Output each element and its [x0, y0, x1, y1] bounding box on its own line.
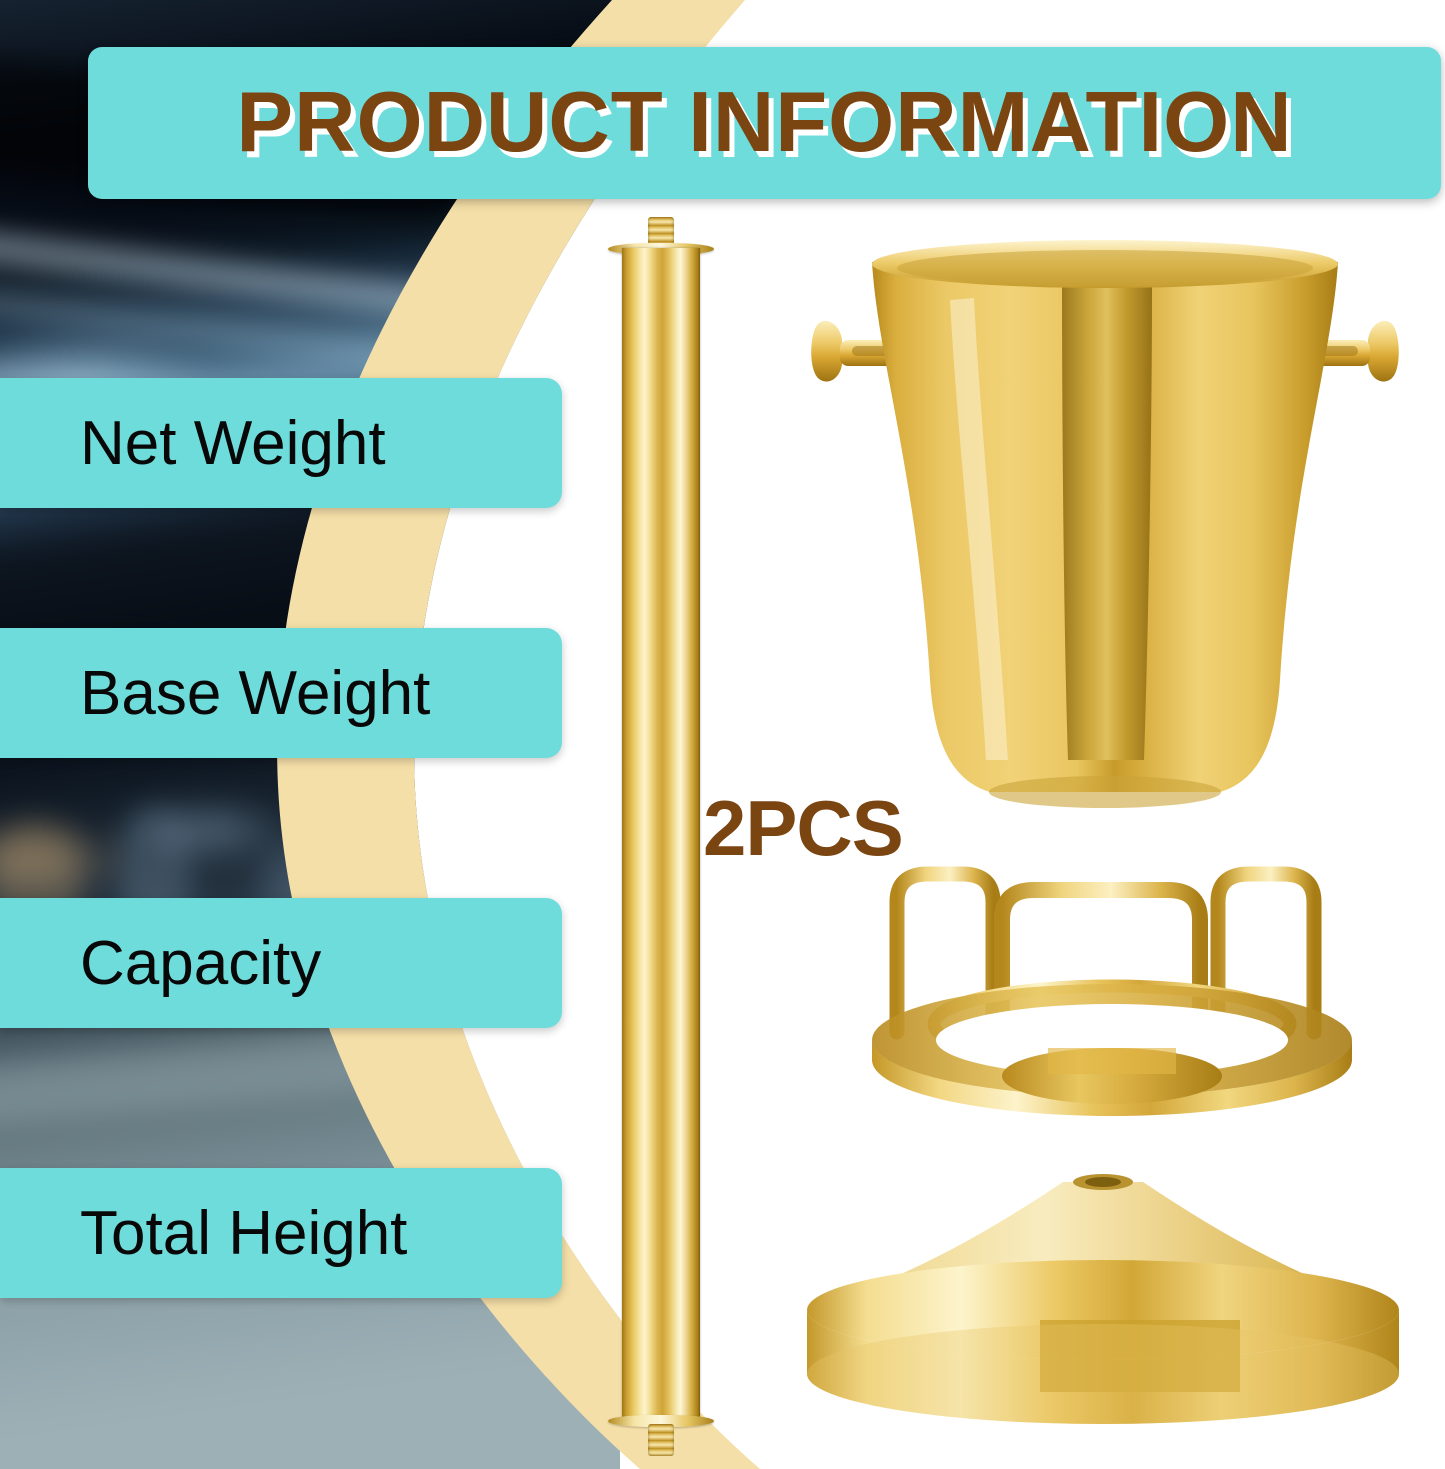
product-champagne-bucket: [800, 240, 1410, 830]
base-disc-bottom: [807, 1324, 1399, 1424]
pole-bottom-thread-icon: [648, 1424, 674, 1456]
spec-label-net-weight: Net Weight: [0, 378, 562, 508]
bucket-inner-reflection: [1062, 280, 1152, 760]
bucket-mouth: [897, 250, 1313, 286]
spec-label-base-weight: Base Weight: [0, 628, 562, 758]
holder-band-highlight: [1048, 1048, 1176, 1074]
spec-label-capacity: Capacity: [0, 898, 562, 1028]
product-cone-base: [795, 1160, 1410, 1460]
infographic-canvas: PRODUCT INFORMATION Net Weight Base Weig…: [0, 0, 1445, 1469]
spec-label-text: Capacity: [0, 928, 321, 999]
page-title: PRODUCT INFORMATION: [236, 74, 1292, 172]
product-pole: [622, 248, 700, 1423]
page-title-banner: PRODUCT INFORMATION: [88, 47, 1441, 199]
bucket-bottom: [989, 776, 1221, 808]
product-ring-holder: [862, 862, 1362, 1127]
spec-label-total-height: Total Height: [0, 1168, 562, 1298]
photo-counter-streak: [0, 1012, 571, 1128]
base-socket-hole: [1085, 1177, 1121, 1187]
spec-label-text: Base Weight: [0, 658, 430, 729]
spec-label-text: Total Height: [0, 1198, 407, 1269]
spec-label-text: Net Weight: [0, 408, 386, 479]
